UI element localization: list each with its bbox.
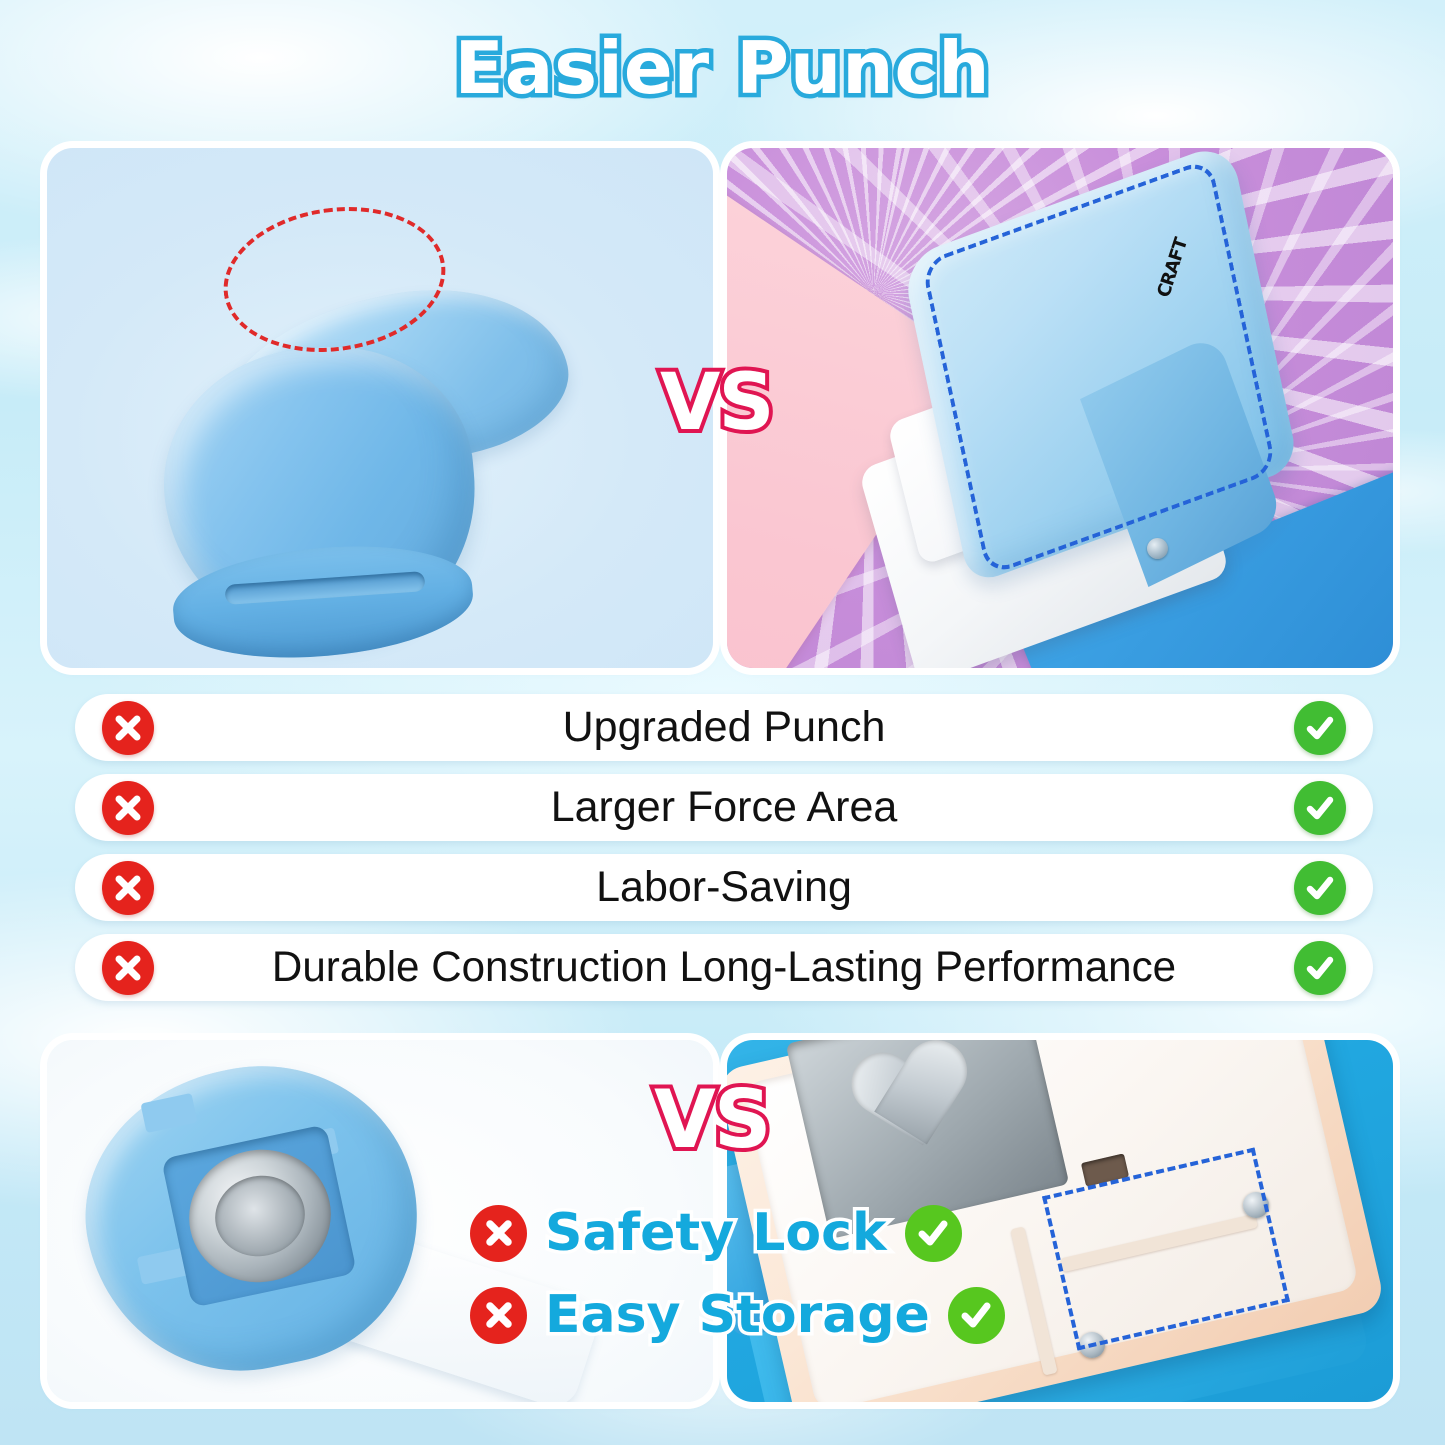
check-icon xyxy=(1294,781,1346,835)
feature-label: Durable Construction Long-Lasting Perfor… xyxy=(88,943,1360,992)
cross-icon xyxy=(102,701,154,755)
check-icon xyxy=(905,1205,962,1262)
check-icon xyxy=(1294,861,1346,915)
list-item: Easy Storage xyxy=(470,1274,1005,1356)
list-item: Safety Lock xyxy=(470,1192,1005,1274)
check-icon xyxy=(1294,701,1346,755)
cross-icon xyxy=(470,1205,527,1262)
cross-icon xyxy=(102,861,154,915)
new-punch-screw xyxy=(1147,538,1168,559)
new-punch-image-panel: CRAFT xyxy=(727,148,1393,668)
table-row: Labor-Saving xyxy=(75,854,1373,921)
cross-icon xyxy=(102,781,154,835)
feature-label: Larger Force Area xyxy=(75,783,1373,832)
vs-badge-bottom: VS xyxy=(654,1073,770,1166)
table-row: Larger Force Area xyxy=(75,774,1373,841)
check-icon xyxy=(948,1287,1005,1344)
feature-label: Upgraded Punch xyxy=(75,703,1373,752)
table-row: Upgraded Punch xyxy=(75,694,1373,761)
check-icon xyxy=(1294,941,1346,995)
bottom-feature-overlay: Safety Lock Easy Storage xyxy=(470,1192,1005,1356)
bottom-feature-label: Easy Storage xyxy=(545,1285,930,1345)
table-row: Durable Construction Long-Lasting Perfor… xyxy=(75,934,1373,1001)
cross-icon xyxy=(470,1287,527,1344)
feature-comparison-list: Upgraded Punch Larger Force Area Labor-S… xyxy=(75,694,1373,1014)
page-title: Easier Punch xyxy=(0,26,1445,110)
vs-badge-top: VS xyxy=(660,358,773,448)
bottom-feature-label: Safety Lock xyxy=(545,1203,887,1263)
feature-label: Labor-Saving xyxy=(75,863,1373,912)
old-punch-image-panel xyxy=(47,148,713,668)
